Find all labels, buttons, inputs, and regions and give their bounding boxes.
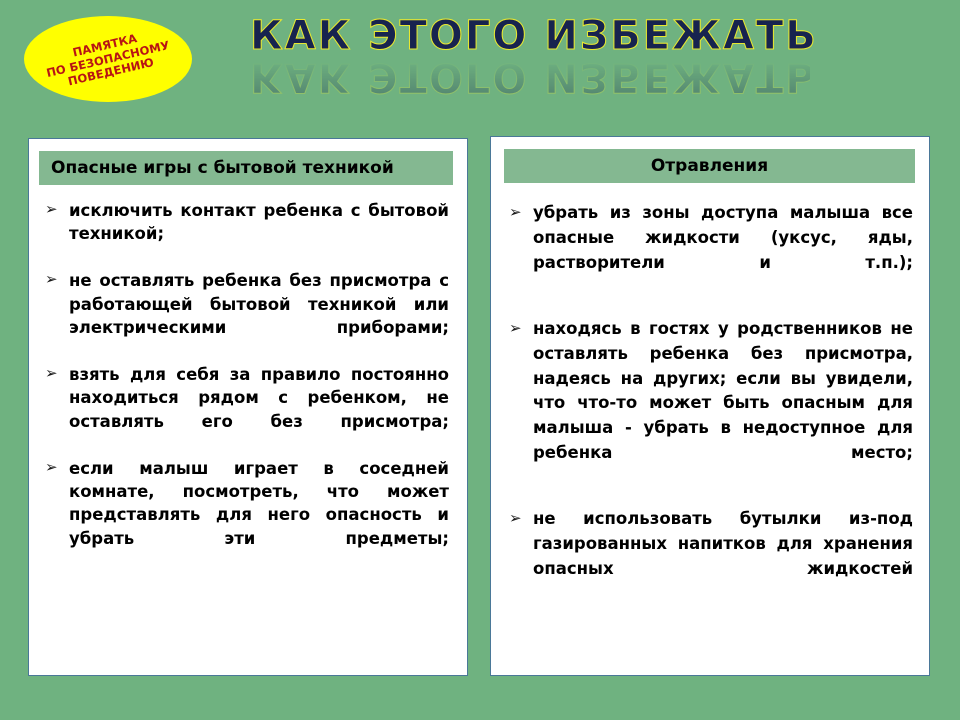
- panel-household-appliances: Опасные игры с бытовой техникой ➢ исключ…: [28, 138, 468, 676]
- list-item: ➢ если малыш играет в соседней комнате, …: [45, 457, 449, 574]
- memo-badge-text: ПАМЯТКА ПО БЕЗОПАСНОМУ ПОВЕДЕНИЮ: [42, 25, 174, 93]
- arrow-bullet-icon: ➢: [509, 317, 533, 340]
- arrow-bullet-icon: ➢: [45, 457, 69, 478]
- list-item: ➢ исключить контакт ребенка с бытовой те…: [45, 199, 449, 269]
- bullet-list-right: ➢ убрать из зоны доступа малыша все опас…: [491, 183, 929, 606]
- arrow-bullet-icon: ➢: [45, 363, 69, 384]
- list-item-text: убрать из зоны доступа малыша все опасны…: [533, 201, 913, 300]
- bullet-list-left: ➢ исключить контакт ребенка с бытовой те…: [29, 185, 467, 574]
- list-item-text: если малыш играет в соседней комнате, по…: [69, 457, 449, 574]
- arrow-bullet-icon: ➢: [45, 199, 69, 220]
- list-item-text: находясь в гостях у родственников не ост…: [533, 317, 913, 490]
- arrow-bullet-icon: ➢: [45, 269, 69, 290]
- list-item: ➢ находясь в гостях у родственников не о…: [509, 317, 913, 490]
- list-item-text: исключить контакт ребенка с бытовой техн…: [69, 199, 449, 269]
- list-item-text: не использовать бутылки из-под газирован…: [533, 507, 913, 606]
- memo-badge: ПАМЯТКА ПО БЕЗОПАСНОМУ ПОВЕДЕНИЮ: [24, 16, 192, 102]
- slide-title-block: КАК ЭТОГО ИЗБЕЖАТЬ КАК ЭТОГО ИЗБЕЖАТЬ: [250, 16, 810, 116]
- list-item: ➢ не использовать бутылки из-под газиров…: [509, 507, 913, 606]
- panel-poisoning: Отравления ➢ убрать из зоны доступа малы…: [490, 136, 930, 676]
- page-title: КАК ЭТОГО ИЗБЕЖАТЬ: [250, 16, 810, 56]
- panel-header-left: Опасные игры с бытовой техникой: [39, 151, 453, 185]
- list-item: ➢ не оставлять ребенка без присмотра с р…: [45, 269, 449, 363]
- page-title-reflection: КАК ЭТОГО ИЗБЕЖАТЬ: [250, 57, 810, 97]
- arrow-bullet-icon: ➢: [509, 201, 533, 224]
- slide-canvas: ПАМЯТКА ПО БЕЗОПАСНОМУ ПОВЕДЕНИЮ КАК ЭТО…: [0, 0, 960, 720]
- arrow-bullet-icon: ➢: [509, 507, 533, 530]
- list-item: ➢ взять для себя за правило постоянно на…: [45, 363, 449, 457]
- list-item-text: не оставлять ребенка без присмотра с раб…: [69, 269, 449, 363]
- list-item-text: взять для себя за правило постоянно нахо…: [69, 363, 449, 457]
- list-item: ➢ убрать из зоны доступа малыша все опас…: [509, 201, 913, 300]
- panel-header-right: Отравления: [504, 149, 915, 183]
